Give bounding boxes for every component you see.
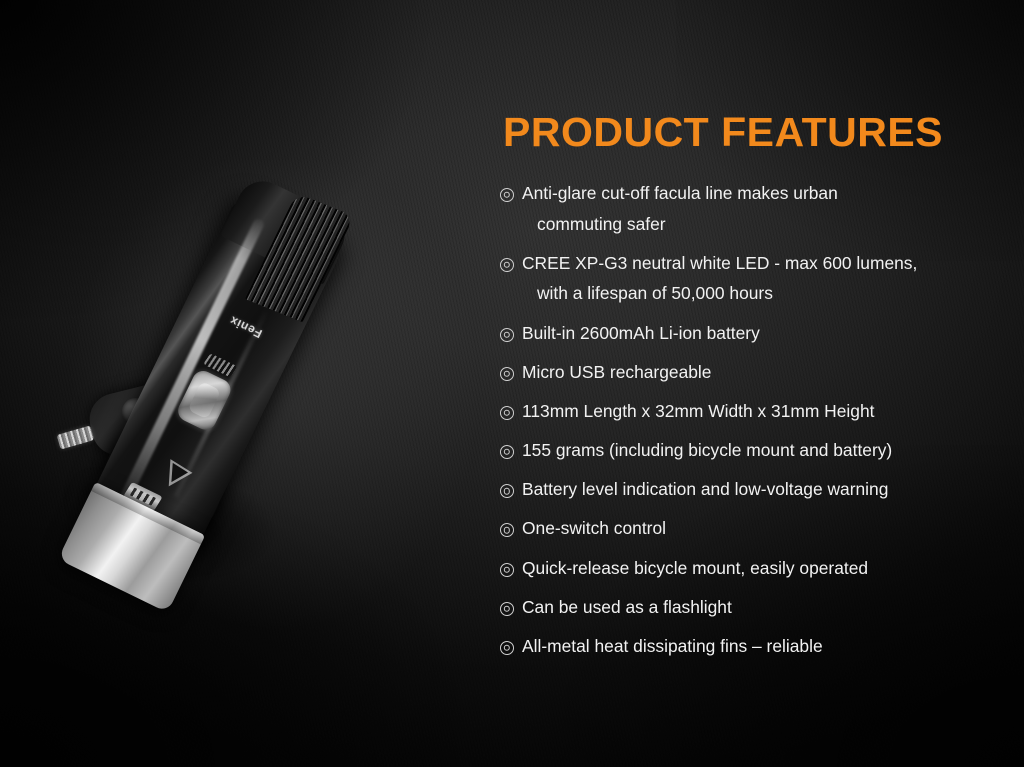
- list-item: CREE XP-G3 neutral white LED - max 600 l…: [500, 254, 970, 304]
- product-photo: Fenix: [40, 150, 510, 650]
- double-circle-icon: [500, 602, 514, 616]
- double-circle-icon: [500, 406, 514, 420]
- feature-text: Battery level indication and low-voltage…: [522, 480, 970, 500]
- feature-text: One-switch control: [522, 519, 970, 539]
- double-circle-icon: [500, 328, 514, 342]
- list-item: One-switch control: [500, 519, 970, 539]
- features-panel: PRODUCT FEATURES Anti-glare cut-off facu…: [500, 112, 970, 676]
- feature-text-continued: commuting safer: [522, 215, 970, 235]
- feature-list: Anti-glare cut-off facula line makes urb…: [500, 184, 970, 657]
- double-circle-icon: [500, 445, 514, 459]
- double-circle-icon: [500, 188, 514, 202]
- list-item: All-metal heat dissipating fins – reliab…: [500, 637, 970, 657]
- double-circle-icon: [500, 563, 514, 577]
- double-circle-icon: [500, 523, 514, 537]
- product-feature-slide: Fenix PRODUCT FEATURES Anti-glare cut-of…: [0, 0, 1024, 767]
- list-item: 113mm Length x 32mm Width x 31mm Height: [500, 402, 970, 422]
- list-item: Quick-release bicycle mount, easily oper…: [500, 559, 970, 579]
- double-circle-icon: [500, 258, 514, 272]
- page-title: PRODUCT FEATURES: [503, 112, 970, 153]
- feature-text: 113mm Length x 32mm Width x 31mm Height: [522, 402, 970, 422]
- feature-text: Anti-glare cut-off facula line makes urb…: [522, 184, 970, 204]
- feature-text: All-metal heat dissipating fins – reliab…: [522, 637, 970, 657]
- feature-text: 155 grams (including bicycle mount and b…: [522, 441, 970, 461]
- mount-screw: [57, 425, 95, 449]
- feature-text: Built-in 2600mAh Li-ion battery: [522, 324, 970, 344]
- list-item: Anti-glare cut-off facula line makes urb…: [500, 184, 970, 234]
- list-item: Built-in 2600mAh Li-ion battery: [500, 324, 970, 344]
- feature-text: Quick-release bicycle mount, easily oper…: [522, 559, 970, 579]
- list-item: Can be used as a flashlight: [500, 598, 970, 618]
- feature-text: Micro USB rechargeable: [522, 363, 970, 383]
- feature-text: Can be used as a flashlight: [522, 598, 970, 618]
- list-item: Micro USB rechargeable: [500, 363, 970, 383]
- double-circle-icon: [500, 367, 514, 381]
- double-circle-icon: [500, 641, 514, 655]
- list-item: 155 grams (including bicycle mount and b…: [500, 441, 970, 461]
- list-item: Battery level indication and low-voltage…: [500, 480, 970, 500]
- feature-text-continued: with a lifespan of 50,000 hours: [522, 284, 970, 304]
- double-circle-icon: [500, 484, 514, 498]
- feature-text: CREE XP-G3 neutral white LED - max 600 l…: [522, 254, 970, 274]
